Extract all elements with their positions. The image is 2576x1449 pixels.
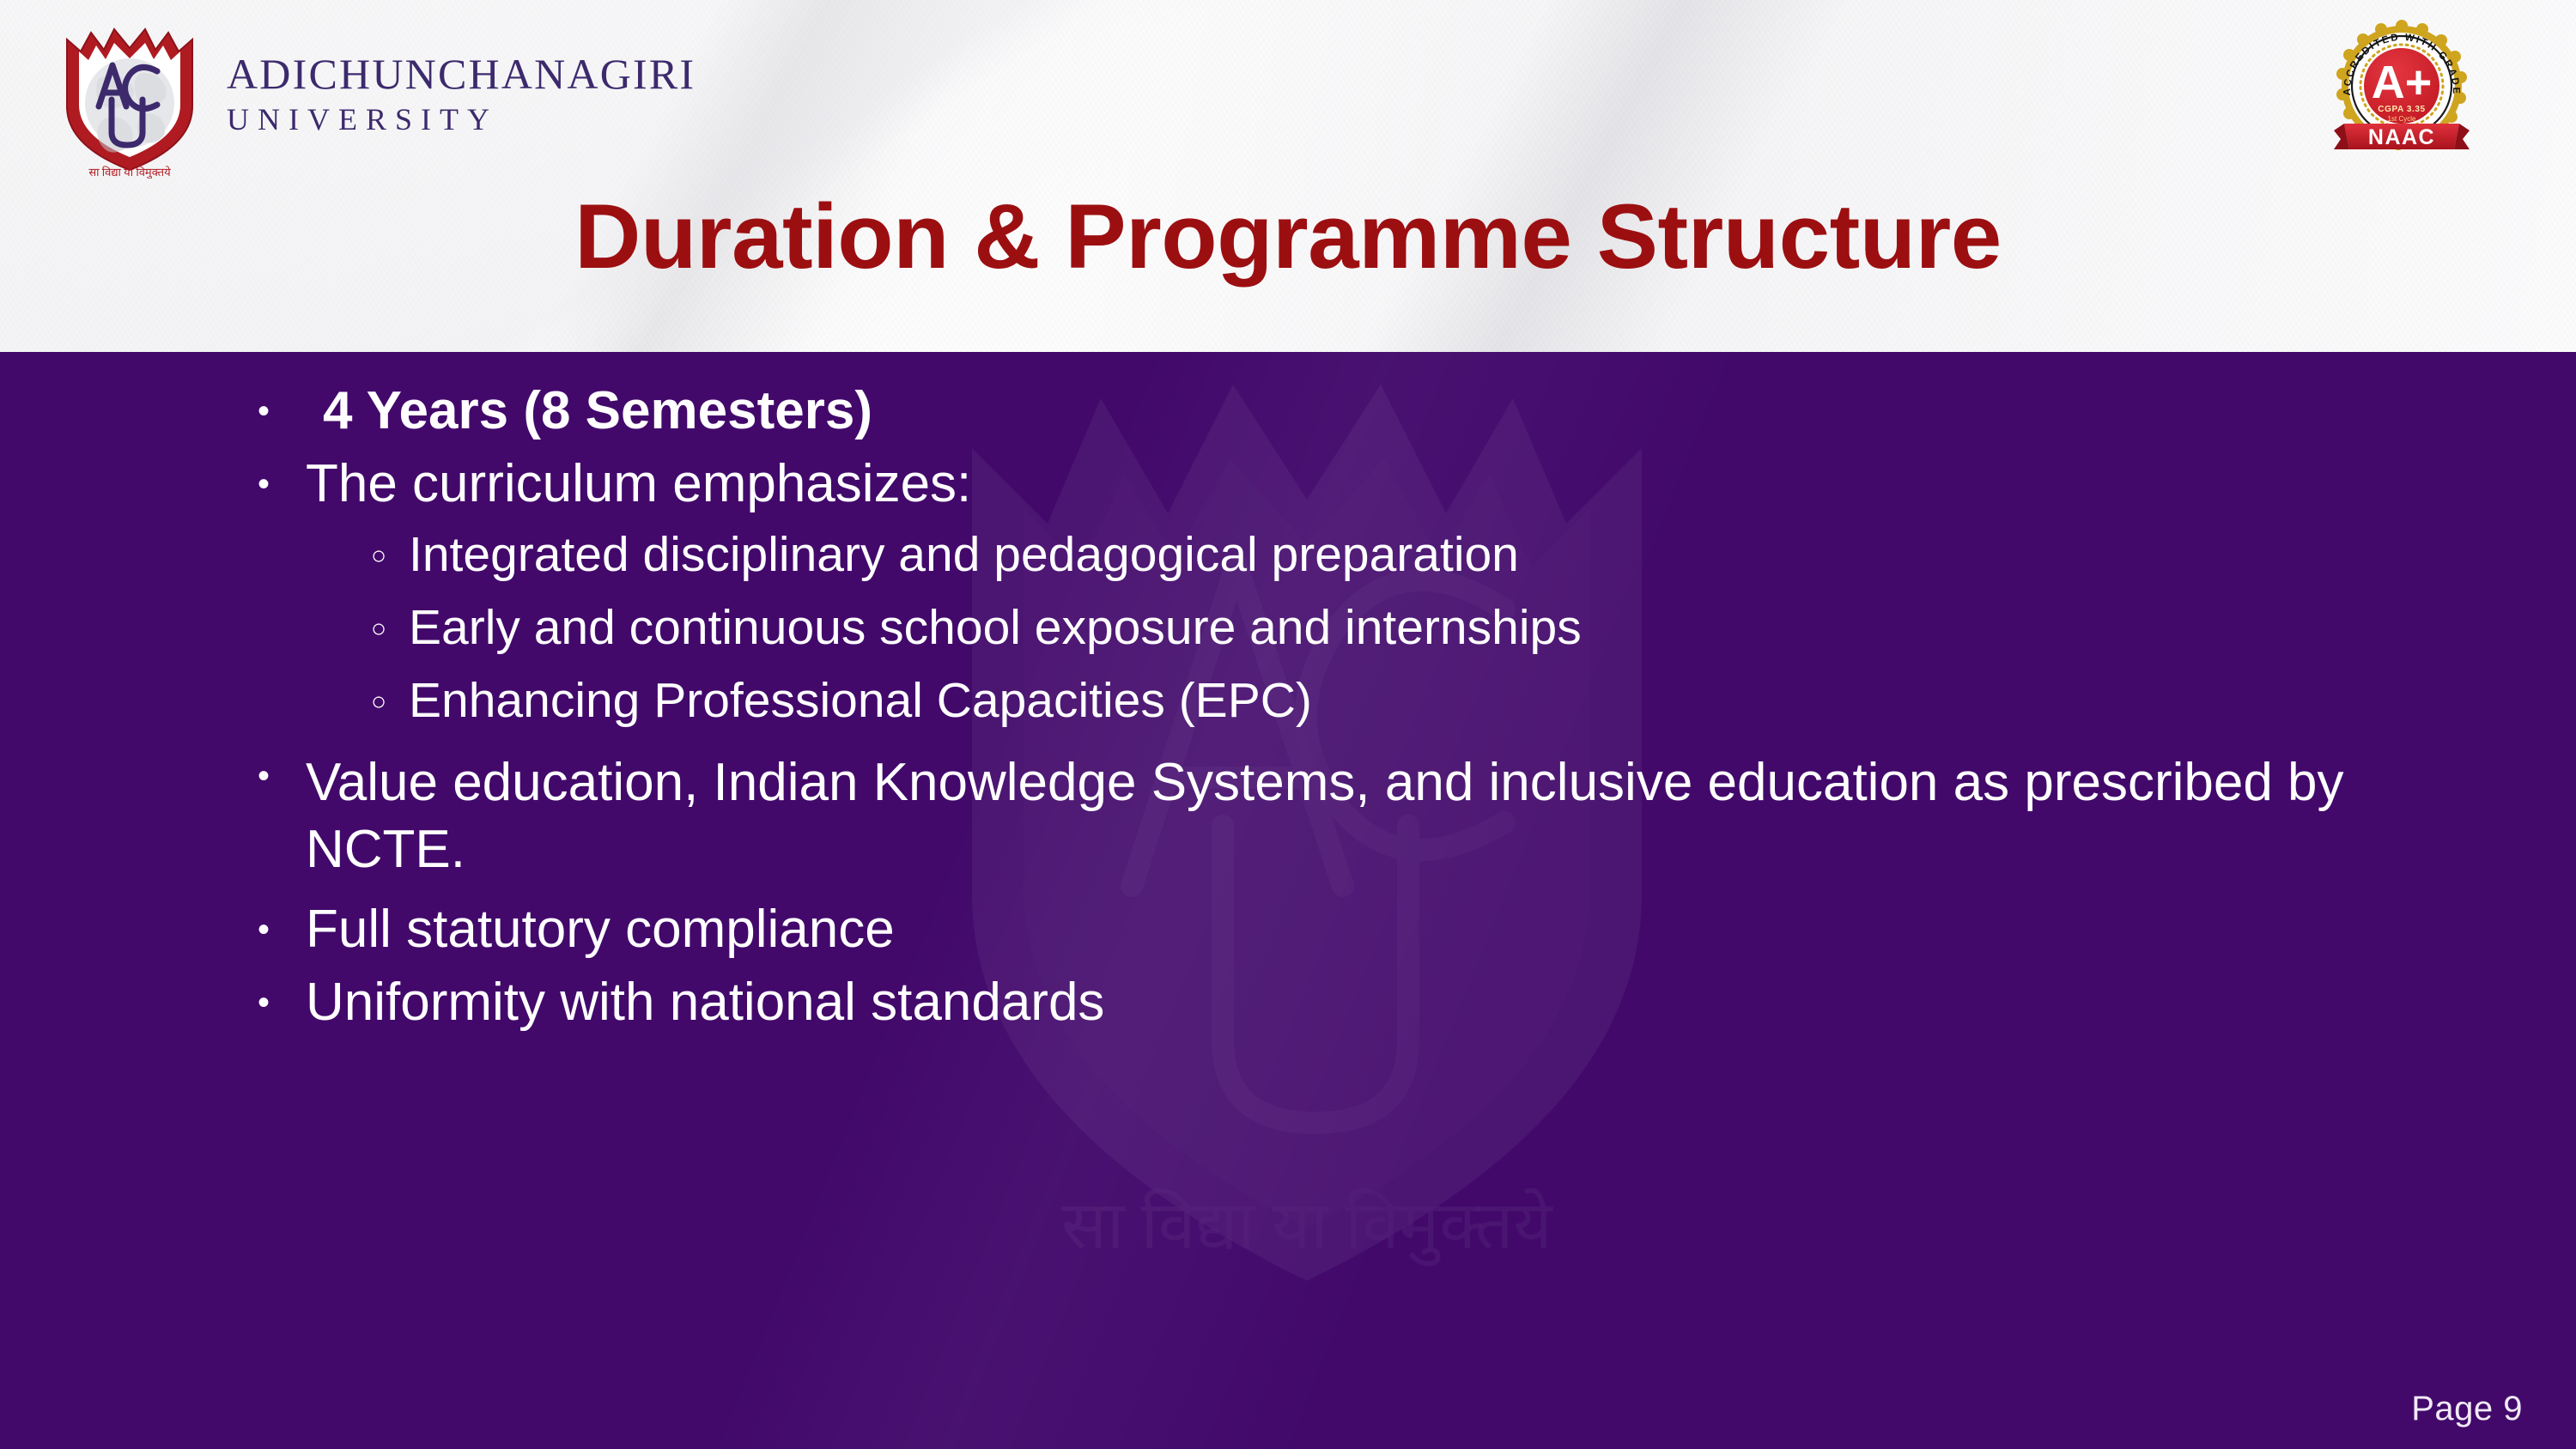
bullet-marker-icon: • (258, 385, 306, 438)
list-item-text: Enhancing Professional Capacities (EPC) (409, 676, 2456, 725)
page-title: Duration & Programme Structure (0, 187, 2576, 287)
list-item: ○ Early and continuous school exposure a… (258, 603, 2456, 655)
slide-body: सा विद्या या विमुक्तये • 4 Years (8 Seme… (0, 352, 2576, 1449)
university-subname: UNIVERSITY (227, 96, 696, 142)
list-item: • The curriculum emphasizes: (258, 458, 2456, 511)
list-item: ○ Enhancing Professional Capacities (EPC… (258, 676, 2456, 728)
watermark-motto-text: सा विद्या या विमुक्तये (1061, 1188, 1553, 1266)
page-number-label: Page 9 (2411, 1390, 2523, 1428)
logo-motto-text: सा विद्या या विमुक्तये (88, 166, 171, 179)
list-item-text: Integrated disciplinary and pedagogical … (409, 530, 2456, 579)
sub-bullet-marker-icon: ○ (371, 676, 409, 728)
naac-ribbon-text: NAAC (2368, 125, 2435, 149)
university-logo-block: सा विद्या या विमुक्तये ADICHUNCHANAGIRI … (53, 10, 696, 179)
naac-grade-text: A+ (2372, 57, 2433, 108)
university-name: ADICHUNCHANAGIRI (227, 52, 696, 96)
list-item: • 4 Years (8 Semesters) (258, 385, 2456, 438)
list-item: • Value education, Indian Knowledge Syst… (258, 749, 2456, 883)
list-item: • Full statutory compliance (258, 903, 2456, 956)
list-item-text: Uniformity with national standards (306, 976, 2456, 1029)
bullet-marker-icon: • (258, 903, 306, 956)
list-item-text: Value education, Indian Knowledge System… (306, 749, 2456, 883)
university-wordmark: ADICHUNCHANAGIRI UNIVERSITY (227, 47, 696, 142)
list-item-text: Early and continuous school exposure and… (409, 603, 2456, 652)
naac-accreditation-badge-icon: ACCREDITED WITH GRADE A+ CGPA 3.35 1st C… (2329, 19, 2475, 165)
presentation-slide: सा विद्या या विमुक्तये ADICHUNCHANAGIRI … (0, 0, 2576, 1449)
bullet-marker-icon: • (258, 458, 306, 511)
list-item-text: Full statutory compliance (306, 903, 2456, 956)
list-item-text: 4 Years (8 Semesters) (306, 385, 2456, 438)
list-item-text: The curriculum emphasizes: (306, 458, 2456, 511)
list-item: ○ Integrated disciplinary and pedagogica… (258, 530, 2456, 582)
sub-bullet-marker-icon: ○ (371, 530, 409, 582)
list-item: • Uniformity with national standards (258, 976, 2456, 1029)
bullet-marker-icon: • (258, 749, 306, 803)
sub-bullet-marker-icon: ○ (371, 603, 409, 655)
naac-cgpa-text: CGPA 3.35 (2378, 105, 2425, 114)
acu-shield-logo-icon: सा विद्या या विमुक्तये (53, 10, 206, 179)
bullet-marker-icon: • (258, 976, 306, 1029)
bullet-list: • 4 Years (8 Semesters) • The curriculum… (258, 385, 2456, 1049)
naac-cycle-text: 1st Cycle (2388, 115, 2416, 123)
